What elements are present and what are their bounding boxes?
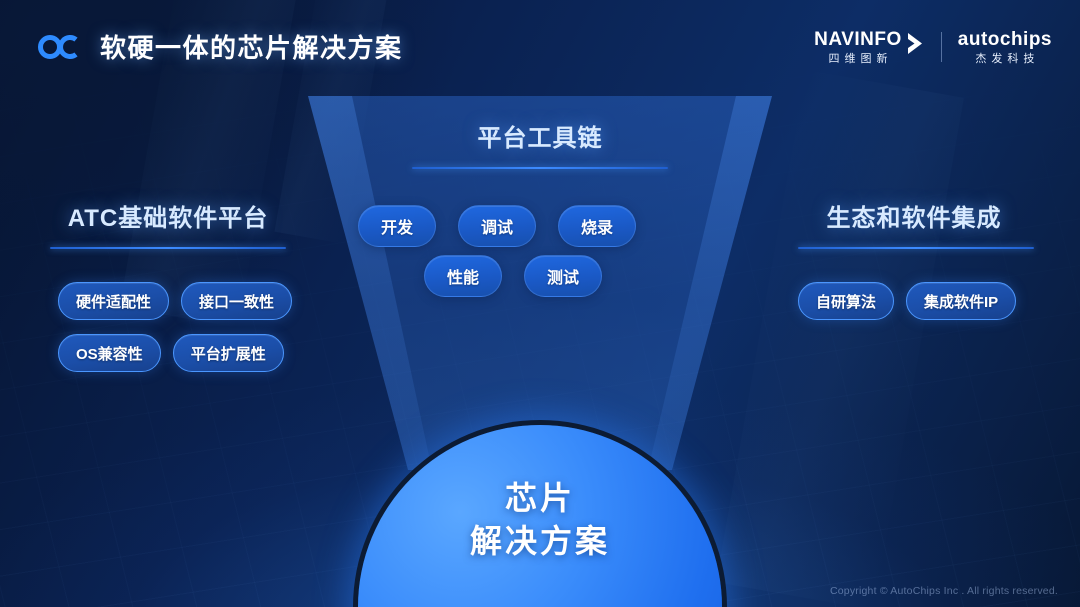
left-column-heading: ATC基础软件平台 xyxy=(40,198,296,249)
left-heading-text: ATC基础软件平台 xyxy=(40,198,296,233)
core-circle-line-1: 芯片 xyxy=(505,477,575,520)
center-pill-row-2: 性能 测试 xyxy=(424,255,602,297)
page-title: 软硬一体的芯片解决方案 xyxy=(100,28,403,65)
center-pill-5[interactable]: 测试 xyxy=(524,255,602,297)
core-circle[interactable]: 芯片 解决方案 xyxy=(358,425,722,607)
brand-logos: NAVINFO 四维图新 autochips 杰发科技 xyxy=(814,24,1052,70)
brand-navinfo: NAVINFO 四维图新 xyxy=(814,30,925,65)
brand-navinfo-cn: 四维图新 xyxy=(823,54,892,65)
center-pill-2[interactable]: 调试 xyxy=(458,205,536,247)
left-pill-2[interactable]: 接口一致性 xyxy=(181,282,292,320)
core-circle-line-2: 解决方案 xyxy=(470,520,610,563)
center-column-heading: 平台工具链 xyxy=(412,118,668,169)
slide-header: 软硬一体的芯片解决方案 NAVINFO 四维图新 autochips 杰发科技 xyxy=(0,0,1080,92)
center-pill-1[interactable]: 开发 xyxy=(358,205,436,247)
brand-autochips: autochips 杰发科技 xyxy=(958,30,1052,65)
center-pill-4[interactable]: 性能 xyxy=(424,255,502,297)
right-heading-text: 生态和软件集成 xyxy=(786,198,1042,233)
oc-logo-icon xyxy=(36,33,80,61)
right-pill-1[interactable]: 自研算法 xyxy=(798,282,894,320)
center-heading-underline xyxy=(412,167,668,169)
brand-autochips-cn: 杰发科技 xyxy=(970,54,1039,65)
center-pill-row-1: 开发 调试 烧录 xyxy=(358,205,636,247)
left-pill-4[interactable]: 平台扩展性 xyxy=(173,334,284,372)
slide-canvas: 软硬一体的芯片解决方案 NAVINFO 四维图新 autochips 杰发科技 … xyxy=(0,0,1080,607)
right-heading-underline xyxy=(798,247,1034,249)
chevron-right-icon xyxy=(905,30,925,62)
left-pill-3[interactable]: OS兼容性 xyxy=(58,334,161,372)
brand-autochips-latin: autochips xyxy=(958,30,1052,49)
center-heading-text: 平台工具链 xyxy=(412,118,668,153)
background-light-streak xyxy=(716,70,964,607)
left-heading-underline xyxy=(50,247,286,249)
right-pill-group: 自研算法 集成软件IP xyxy=(798,282,1048,320)
left-pill-1[interactable]: 硬件适配性 xyxy=(58,282,169,320)
brand-divider xyxy=(941,32,942,62)
center-pill-3[interactable]: 烧录 xyxy=(558,205,636,247)
left-pill-group: 硬件适配性 接口一致性 OS兼容性 平台扩展性 xyxy=(58,282,308,372)
right-column-heading: 生态和软件集成 xyxy=(786,198,1042,249)
right-pill-2[interactable]: 集成软件IP xyxy=(906,282,1016,320)
copyright-text: Copyright © AutoChips Inc . All rights r… xyxy=(830,585,1058,597)
brand-navinfo-latin: NAVINFO xyxy=(814,30,902,49)
